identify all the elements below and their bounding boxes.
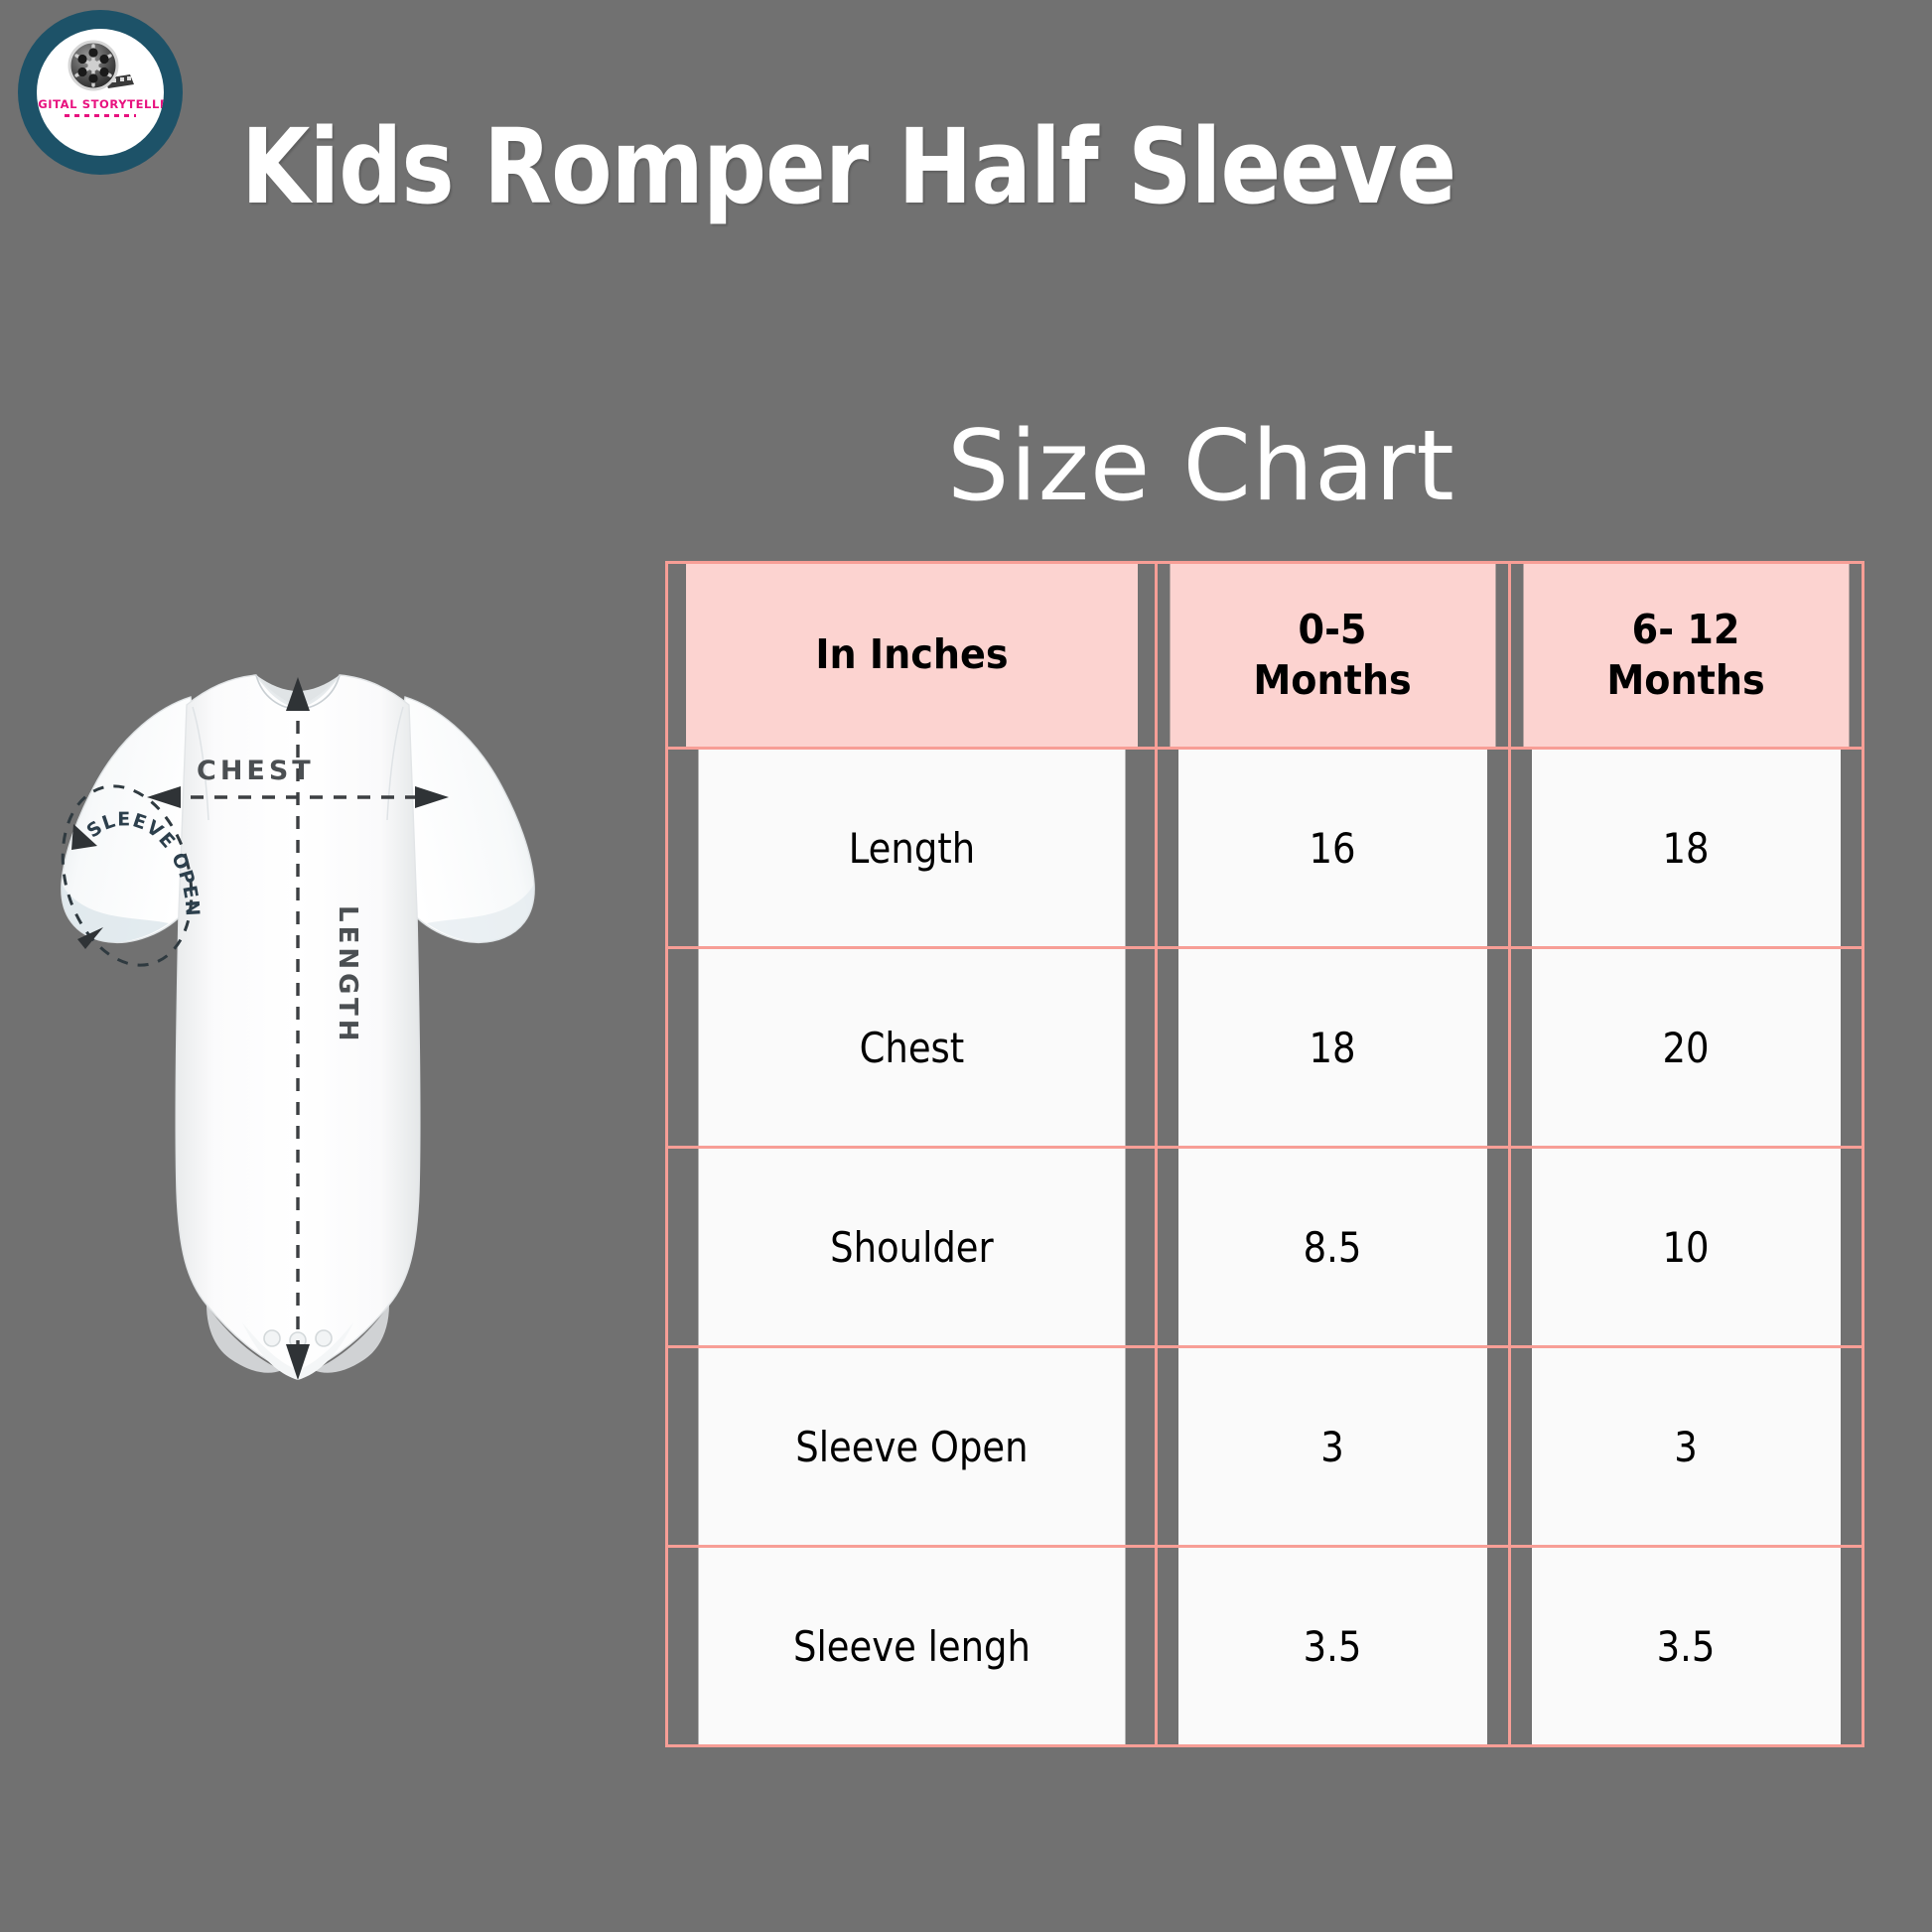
column-header-in-inches: In Inches [684, 563, 1139, 749]
brand-logo-dashed-rule [65, 114, 136, 117]
column-header-6-12-months-line2: Months [1524, 655, 1848, 706]
size-chart-heading: Size Chart [536, 414, 1866, 521]
column-header-6-12-months: 6- 12 Months [1522, 563, 1851, 749]
row-value-0-5: 18 [1177, 948, 1488, 1148]
row-value-6-12: 3.5 [1531, 1547, 1842, 1746]
row-label: Sleeve Open [696, 1347, 1127, 1547]
table-row: Sleeve lengh 3.5 3.5 [667, 1547, 1863, 1746]
table-row: Chest 18 20 [667, 948, 1863, 1148]
row-value-6-12: 20 [1531, 948, 1842, 1148]
row-label: Shoulder [696, 1148, 1127, 1347]
size-chart-table-container: In Inches 0-5 Months 6- 12 Months Length… [665, 561, 1864, 1747]
column-header-0-5-months-line2: Months [1171, 655, 1494, 706]
brand-logo: DIGITAL STORYTELLER [18, 10, 183, 175]
brand-logo-text: DIGITAL STORYTELLER [37, 99, 164, 111]
film-reel-icon [65, 39, 136, 98]
column-header-0-5-months-line1: 0-5 [1171, 605, 1494, 655]
brand-logo-inner: DIGITAL STORYTELLER [37, 29, 164, 156]
column-header-0-5-months: 0-5 Months [1169, 563, 1497, 749]
row-label: Chest [696, 948, 1127, 1148]
table-row: Length 16 18 [667, 749, 1863, 948]
size-chart-table: In Inches 0-5 Months 6- 12 Months Length… [665, 561, 1864, 1747]
table-row: Shoulder 8.5 10 [667, 1148, 1863, 1347]
row-value-6-12: 10 [1531, 1148, 1842, 1347]
row-value-0-5: 8.5 [1177, 1148, 1488, 1347]
column-header-6-12-months-line1: 6- 12 [1524, 605, 1848, 655]
column-header-in-inches-line1: In Inches [686, 629, 1137, 680]
romper-illustration: LENGTH CHEST SLEEVE OPEN [20, 586, 576, 1638]
row-value-0-5: 16 [1177, 749, 1488, 948]
page-title: Kids Romper Half Sleeve [241, 113, 1455, 221]
row-label: Length [696, 749, 1127, 948]
table-header-row: In Inches 0-5 Months 6- 12 Months [667, 563, 1863, 749]
table-row: Sleeve Open 3 3 [667, 1347, 1863, 1547]
romper-graphic: LENGTH CHEST SLEEVE OPEN [20, 586, 576, 1638]
length-label: LENGTH [333, 905, 362, 1044]
chest-label: CHEST [197, 756, 315, 786]
row-label: Sleeve lengh [696, 1547, 1127, 1746]
row-value-6-12: 3 [1531, 1347, 1842, 1547]
row-value-0-5: 3.5 [1177, 1547, 1488, 1746]
row-value-6-12: 18 [1531, 749, 1842, 948]
row-value-0-5: 3 [1177, 1347, 1488, 1547]
